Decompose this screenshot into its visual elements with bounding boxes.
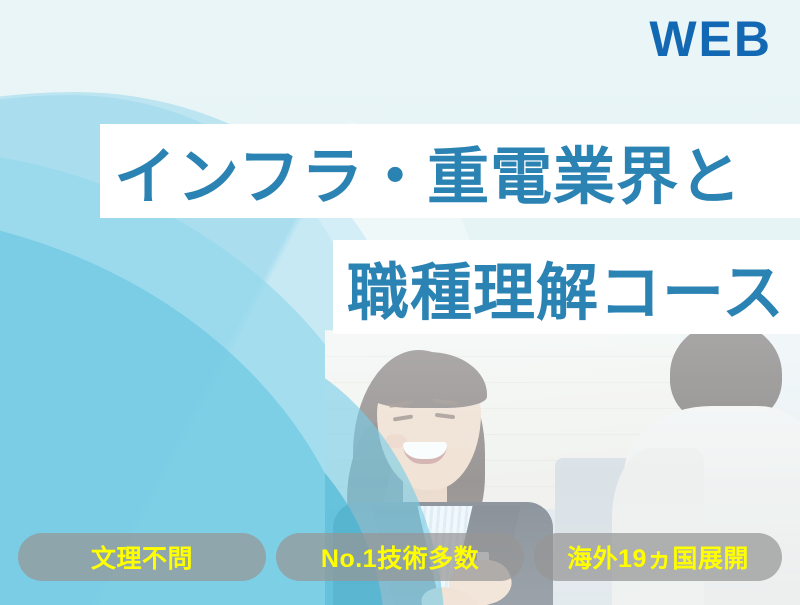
feature-badge-0: 文理不問: [18, 533, 266, 581]
feature-badge-2: 海外19ヵ国展開: [534, 533, 782, 581]
web-seminar-banner: WEB インフラ・重電業界と 職種理解コース 文理不問 No.1技術多数 海外1…: [0, 0, 800, 605]
page-title-line-1: インフラ・重電業界と: [100, 124, 800, 218]
page-title-line-2: 職種理解コース: [333, 240, 800, 334]
feature-badge-1: No.1技術多数: [276, 533, 524, 581]
web-label: WEB: [649, 14, 772, 64]
feature-badge-list: 文理不問 No.1技術多数 海外19ヵ国展開: [0, 533, 800, 581]
